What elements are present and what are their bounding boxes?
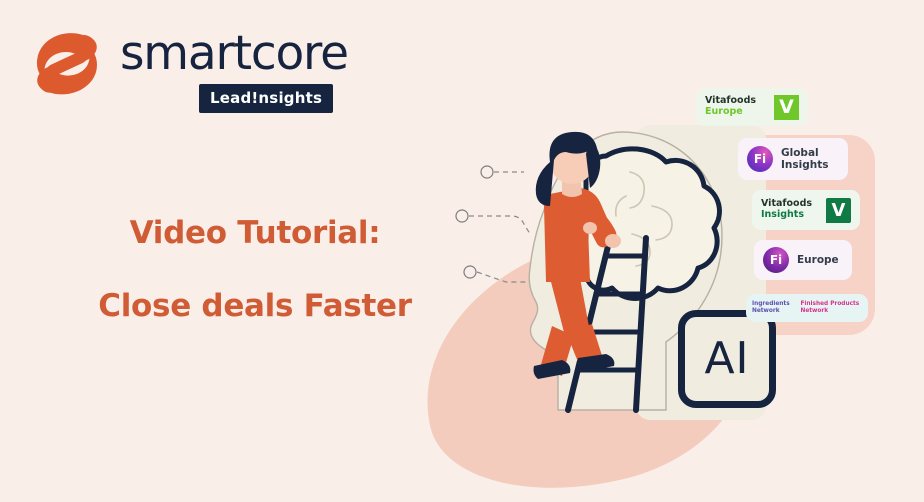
brand-cards-stack: Vitafoods Europe V Fi Global Insights Vi… — [690, 88, 865, 330]
fi-logo-icon: Fi — [747, 146, 773, 172]
finished-products-line2: Network — [800, 308, 862, 315]
brand-card-networks[interactable]: Ingredients Network Finished Products Ne… — [746, 294, 868, 322]
smartcore-logo[interactable]: smartcore Lead!nsights — [28, 24, 348, 113]
brand-card-fi-europe[interactable]: Fi Europe — [754, 240, 852, 280]
fi-global-line1: Global — [781, 147, 829, 159]
figure-hand — [605, 234, 621, 248]
logo-badge-leadinsights: Lead!nsights — [199, 84, 333, 113]
video-tutorial-banner: smartcore Lead!nsights Video Tutorial: C… — [0, 0, 924, 502]
figure-hand-2 — [583, 222, 597, 234]
logo-wordmark: smartcore — [120, 30, 348, 77]
vitafoods-insights-title: Vitafoods Insights — [761, 199, 826, 220]
brand-card-vitafoods-insights[interactable]: Vitafoods Insights V — [752, 190, 860, 230]
headline: Video Tutorial: Close deals Faster — [0, 215, 510, 325]
vitafoods-insights-v-icon: V — [826, 198, 851, 223]
vitafoods-insights-line2: Insights — [761, 210, 826, 221]
brand-card-fi-global-insights[interactable]: Fi Global Insights — [738, 138, 848, 180]
fi-global-insights-label: Global Insights — [781, 147, 829, 171]
smartcore-swirl-logo-icon — [28, 24, 106, 102]
vitafoods-v-icon: V — [774, 95, 799, 120]
fi-europe-logo-icon: Fi — [763, 247, 789, 273]
ingredients-network-line2: Network — [752, 308, 800, 315]
vitafoods-europe-line2: Europe — [705, 107, 774, 118]
fi-europe-line1: Europe — [797, 254, 839, 266]
brand-card-vitafoods-europe[interactable]: Vitafoods Europe V — [696, 88, 808, 126]
connector-lines-icon — [456, 166, 536, 282]
ingredients-network-line1: Ingredients — [752, 301, 800, 308]
fi-europe-label: Europe — [797, 254, 839, 266]
finished-products-line1: Finished Products — [800, 301, 862, 308]
fi-global-line2: Insights — [781, 159, 829, 171]
ingredients-network-label: Ingredients Network — [752, 301, 800, 315]
vitafoods-europe-title: Vitafoods Europe — [705, 96, 774, 117]
headline-line-2: Close deals Faster — [0, 288, 510, 325]
finished-products-network-label: Finished Products Network — [800, 301, 862, 315]
headline-line-1: Video Tutorial: — [0, 215, 510, 252]
ai-box-label: AI — [704, 337, 749, 381]
